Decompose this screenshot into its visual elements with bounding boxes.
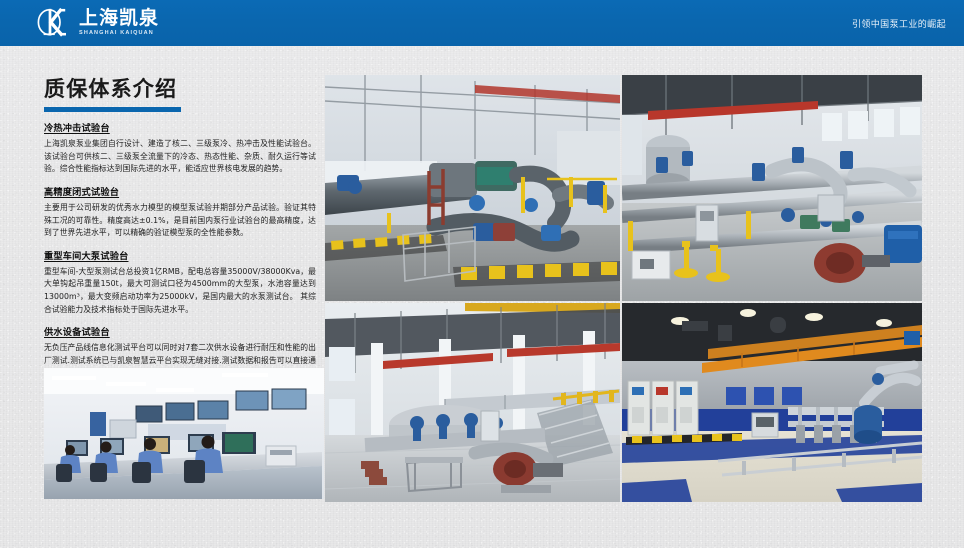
section-cold-hot-impact: 冷热冲击试验台 上海凯泉泵业集团自行设计、建造了核二、三级泵冷、热冲击及性能试验… [44, 123, 316, 176]
section-body: 上海凯泉泵业集团自行设计、建造了核二、三级泵冷、热冲击及性能试验台。该试验台可供… [44, 138, 316, 176]
slide-canvas: 上海凯泉 SHANGHAI KAIQUAN 引领中国泵工业的崛起 质保体系介绍 … [0, 0, 964, 548]
section-heading: 高精度闭式试验台 [44, 187, 316, 199]
pump-hall-illustration [622, 75, 922, 301]
workshop-illustration [325, 303, 620, 502]
section-body: 重型车间-大型泵测试台总投资1亿RMB，配电总容量35000V/38000Kva… [44, 266, 316, 317]
brand-logo-text: 上海凯泉 SHANGHAI KAIQUAN [79, 9, 159, 37]
header-tagline: 引领中国泵工业的崛起 [852, 0, 946, 46]
brand-name-cn: 上海凯泉 [79, 9, 159, 28]
content-left-column: 质保体系介绍 冷热冲击试验台 上海凯泉泵业集团自行设计、建造了核二、三级泵冷、热… [44, 78, 316, 393]
brand-name-en: SHANGHAI KAIQUAN [79, 31, 159, 37]
section-heavy-workshop-pump: 重型车间大泵试验台 重型车间-大型泵测试台总投资1亿RMB，配电总容量35000… [44, 251, 316, 316]
control-room-illustration [44, 368, 324, 499]
brand-logo[interactable]: 上海凯泉 SHANGHAI KAIQUAN [36, 5, 159, 41]
page-title: 质保体系介绍 [44, 78, 316, 101]
section-heading: 冷热冲击试验台 [44, 123, 316, 135]
section-high-precision-closed: 高精度闭式试验台 主要用于公司研发的优秀水力模型的模型泵试验并期部分产品试验。验… [44, 187, 316, 240]
kaiquan-k-mark-icon [36, 7, 72, 39]
photo-pump-hall [622, 75, 922, 301]
testbed-illustration [325, 75, 620, 301]
photo-grid [325, 75, 922, 502]
header-bar: 上海凯泉 SHANGHAI KAIQUAN 引领中国泵工业的崛起 [0, 0, 964, 46]
title-underline-rule [44, 107, 181, 112]
section-heading: 供水设备试验台 [44, 327, 316, 339]
photo-control-room [44, 368, 324, 499]
water-supply-illustration [622, 303, 922, 502]
photo-workshop [325, 303, 620, 502]
photo-water-supply [622, 303, 922, 502]
section-body: 主要用于公司研发的优秀水力模型的模型泵试验并期部分产品试验。验证其特殊工况的可靠… [44, 202, 316, 240]
photo-testbed-large [325, 75, 620, 301]
section-heading: 重型车间大泵试验台 [44, 251, 316, 263]
